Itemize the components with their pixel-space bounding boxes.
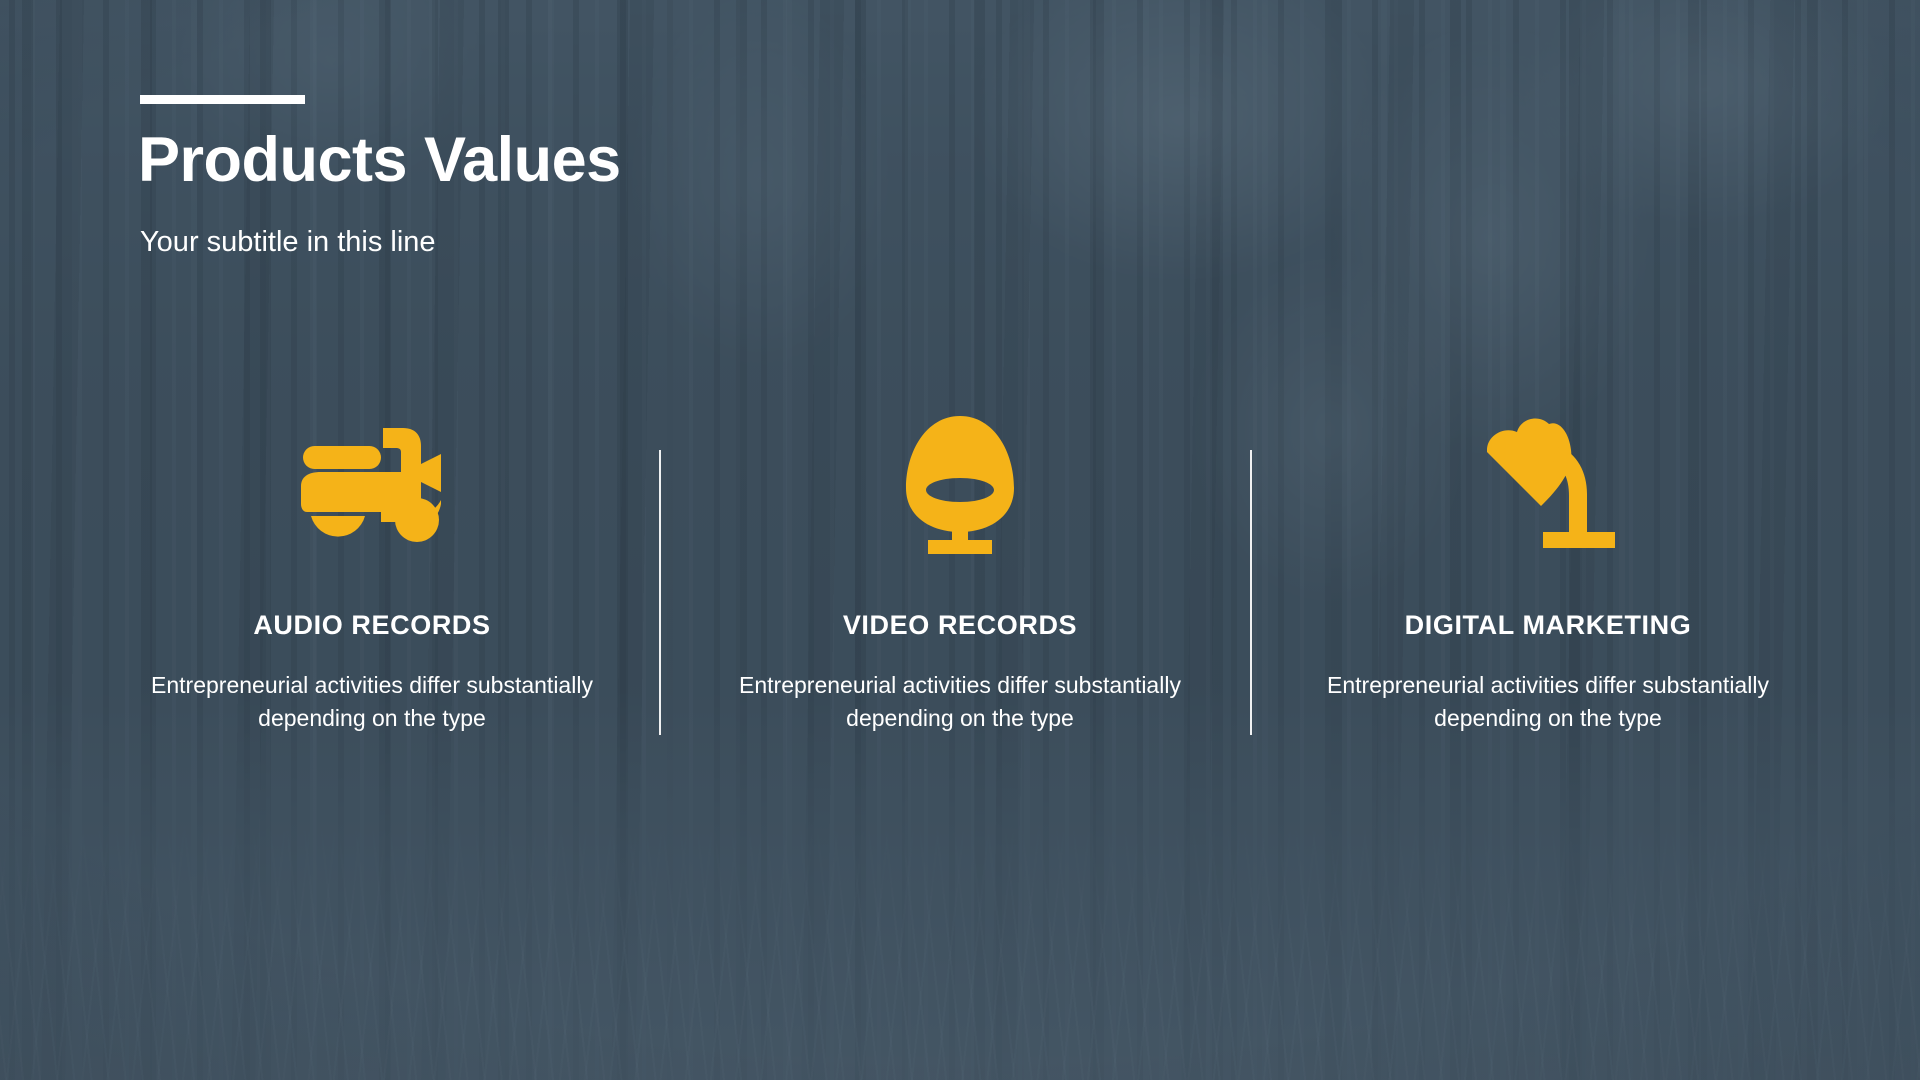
column-body-text: Entrepreneurial activities differ substa… [735, 669, 1185, 734]
feature-column-digital-marketing[interactable]: DIGITAL MARKETING Entrepreneurial activi… [1254, 395, 1842, 734]
page-title: Products Values [138, 126, 621, 195]
scooter-icon [299, 395, 445, 575]
column-title: AUDIO RECORDS [253, 610, 490, 641]
column-body-text: Entrepreneurial activities differ substa… [147, 669, 597, 734]
desk-lamp-icon [1473, 395, 1623, 575]
column-title: VIDEO RECORDS [843, 610, 1077, 641]
feature-column-audio-records[interactable]: AUDIO RECORDS Entrepreneurial activities… [78, 395, 666, 734]
slide-content: Products Values Your subtitle in this li… [0, 0, 1920, 1080]
title-accent-bar [140, 95, 305, 104]
column-title: DIGITAL MARKETING [1405, 610, 1692, 641]
page-subtitle: Your subtitle in this line [140, 225, 436, 260]
presentation-slide: Products Values Your subtitle in this li… [0, 0, 1920, 1080]
column-body-text: Entrepreneurial activities differ substa… [1323, 669, 1773, 734]
feature-columns: AUDIO RECORDS Entrepreneurial activities… [0, 395, 1920, 734]
egg-chair-icon [900, 395, 1020, 575]
feature-column-video-records[interactable]: VIDEO RECORDS Entrepreneurial activities… [666, 395, 1254, 734]
